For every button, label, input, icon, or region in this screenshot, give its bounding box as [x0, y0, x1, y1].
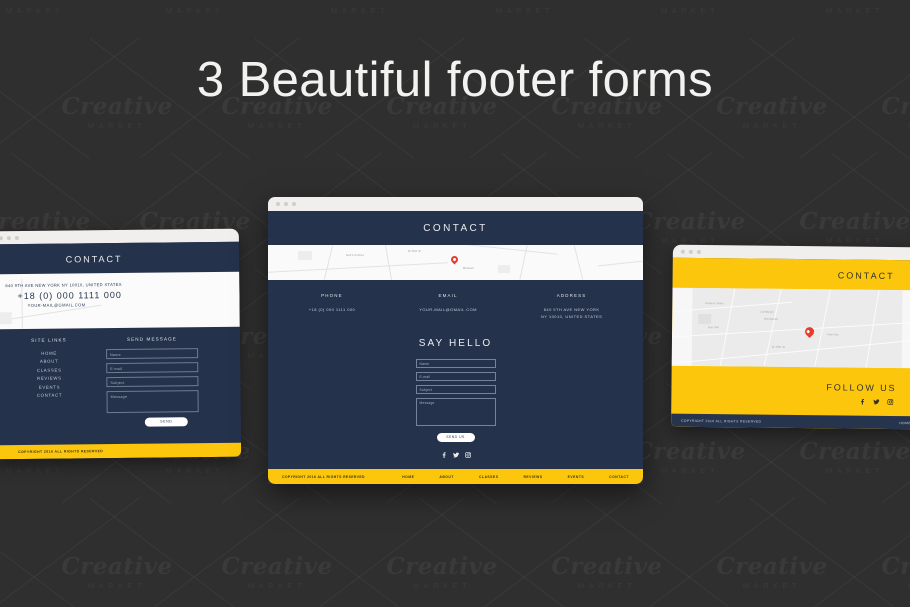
browser-chrome-center [268, 197, 643, 211]
center-message-input[interactable]: Message [416, 398, 496, 426]
watermark-creative-market: CreativeMARKET [872, 555, 910, 590]
watermark-script: Creative [790, 0, 910, 3]
watermark-subtitle: MARKET [707, 581, 837, 590]
right-copyright: COPYRIGHT 2016 ALL RIGHTS RESERVED [681, 418, 761, 423]
watermark-subtitle: MARKET [790, 466, 910, 475]
watermark-subtitle: MARKET [0, 6, 100, 15]
left-footer-bar: COPYRIGHT 2016 ALL RIGHTS RESERVED [0, 443, 241, 460]
center-email-value: YOUR-MAIL@GMAIL.COM [419, 307, 477, 314]
window-dot-minimize-icon [7, 236, 11, 240]
window-dot-maximize-icon [15, 236, 19, 240]
watermark-subtitle: MARKET [0, 466, 100, 475]
mockup-right: CONTACT Hudson Yards Bus 350 Lindbergh M… [671, 245, 910, 430]
watermark-subtitle: MARKET [212, 581, 342, 590]
right-footer-bar: COPYRIGHT 2016 ALL RIGHTS RESERVED HOME [671, 414, 910, 430]
window-dot-minimize-icon [284, 202, 288, 206]
right-map-label-0: Hudson Yards [705, 302, 724, 305]
instagram-icon[interactable] [465, 452, 471, 458]
watermark-creative-market: CreativeMARKET [790, 440, 910, 475]
left-send-button[interactable]: SEND [145, 417, 188, 426]
watermark-subtitle: MARKET [790, 236, 910, 245]
watermark-script: Creative [872, 555, 910, 578]
center-info-email: EMAIL YOUR-MAIL@GMAIL.COM [419, 293, 477, 321]
right-map-label-2: Lindbergh [760, 311, 773, 314]
watermark-subtitle: MARKET [130, 466, 260, 475]
watermark-subtitle: MARKET [295, 6, 425, 15]
watermark-creative-market: CreativeMARKET [212, 555, 342, 590]
left-email: YOUR-MAIL@GMAIL.COM [28, 302, 123, 308]
instagram-icon[interactable] [887, 399, 893, 405]
watermark-creative-market: CreativeMARKET [52, 555, 182, 590]
watermark-script: Creative [295, 0, 425, 3]
watermark-script: Creative [212, 555, 342, 578]
watermark-creative-market: CreativeMARKET [625, 210, 755, 245]
mockup-center-screen: CONTACT Hell's Kitchen W 50th St Midtown… [268, 211, 643, 484]
watermark-subtitle: MARKET [377, 121, 507, 130]
watermark-subtitle: MARKET [707, 121, 837, 130]
watermark-script: Creative [707, 555, 837, 578]
center-say-hello-heading: SAY HELLO [268, 338, 643, 349]
right-social-links [671, 391, 910, 406]
left-address: 840 9TH AVE NEW YORK NY 10010, UNITED ST… [5, 282, 122, 288]
watermark-script: Creative [460, 0, 590, 3]
watermark-creative-market: CreativeMARKET [707, 555, 837, 590]
watermark-creative-market: CreativeMARKET [0, 0, 100, 15]
left-message-input[interactable]: Message [106, 390, 198, 413]
mockup-left-screen: CONTACT 840 9TH AVE NEW YORK NY 10010, U… [0, 242, 241, 460]
left-site-links: SITE LINKS HOME ABOUT CLASSES REVIEWS EV… [20, 337, 79, 428]
center-nav-home[interactable]: HOME [402, 475, 414, 479]
center-map: Hell's Kitchen W 50th St Midtown [268, 245, 643, 280]
watermark-subtitle: MARKET [377, 581, 507, 590]
watermark-subtitle: MARKET [872, 121, 910, 130]
right-map-label-5: Park Ave [827, 333, 839, 336]
watermark-creative-market: CreativeMARKET [790, 0, 910, 15]
twitter-icon[interactable] [453, 452, 459, 458]
right-nav-home[interactable]: HOME [899, 421, 910, 425]
window-dot-maximize-icon [292, 202, 296, 206]
watermark-creative-market: CreativeMARKET [790, 210, 910, 245]
center-send-button[interactable]: SEND US [437, 433, 475, 442]
center-address-value: 840 9TH AVE NEW YORK NY 10010, UNITED ST… [541, 307, 602, 321]
left-name-input[interactable]: Name [106, 348, 198, 359]
watermark-subtitle: MARKET [460, 6, 590, 15]
watermark-script: Creative [790, 440, 910, 463]
center-nav-events[interactable]: EVENTS [568, 475, 585, 479]
watermark-creative-market: CreativeMARKET [625, 0, 755, 15]
center-nav-reviews[interactable]: REVIEWS [523, 475, 542, 479]
watermark-subtitle: MARKET [130, 6, 260, 15]
right-map: Hudson Yards Bus 350 Lindbergh Manhattan… [672, 288, 910, 369]
map-label-0: Hell's Kitchen [346, 254, 364, 257]
center-nav-classes[interactable]: CLASSES [479, 475, 499, 479]
mockup-right-screen: CONTACT Hudson Yards Bus 350 Lindbergh M… [671, 258, 910, 430]
mockup-center: CONTACT Hell's Kitchen W 50th St Midtown… [268, 197, 643, 484]
left-copyright: COPYRIGHT 2016 ALL RIGHTS RESERVED [0, 443, 241, 455]
center-nav-about[interactable]: ABOUT [439, 475, 454, 479]
left-site-links-heading: SITE LINKS [20, 337, 78, 343]
center-name-input[interactable]: Name [416, 359, 496, 368]
watermark-creative-market: CreativeMARKET [625, 440, 755, 475]
watermark-subtitle: MARKET [625, 6, 755, 15]
center-info-phone: PHONE +18 (0) 000 1111 000 [309, 293, 355, 321]
page-title: 3 Beautiful footer forms [0, 52, 910, 108]
watermark-creative-market: CreativeMARKET [295, 0, 425, 15]
location-pin-icon [450, 255, 460, 265]
window-dot-minimize-icon [689, 249, 693, 253]
left-email-input[interactable]: E-mail [106, 362, 198, 373]
right-contact-title: CONTACT [673, 258, 910, 291]
center-contact-title: CONTACT [268, 211, 643, 245]
center-footer-bar: COPYRIGHT 2016 ALL RIGHTS RESERVED HOME … [268, 469, 643, 484]
window-dot-close-icon [0, 236, 3, 240]
facebook-icon[interactable] [859, 399, 865, 405]
watermark-script: Creative [625, 440, 755, 463]
watermark-subtitle: MARKET [790, 6, 910, 15]
watermark-subtitle: MARKET [625, 236, 755, 245]
center-info-address: ADDRESS 840 9TH AVE NEW YORK NY 10010, U… [541, 293, 602, 321]
watermark-script: Creative [625, 210, 755, 233]
right-map-label-4: W 39th St [772, 346, 785, 349]
watermark-script: Creative [0, 0, 100, 3]
center-phone-value: +18 (0) 000 1111 000 [309, 307, 355, 314]
right-follow-us-heading: FOLLOW US [671, 366, 910, 394]
mockup-left: CONTACT 840 9TH AVE NEW YORK NY 10010, U… [0, 229, 241, 460]
left-phone: +18 (0) 000 1111 000 [17, 290, 122, 301]
watermark-script: Creative [377, 555, 507, 578]
center-phone-heading: PHONE [309, 293, 355, 298]
watermark-subtitle: MARKET [52, 581, 182, 590]
right-map-label-1: Bus 350 [708, 326, 719, 329]
watermark-subtitle: MARKET [872, 581, 910, 590]
left-map-contact-text: 840 9TH AVE NEW YORK NY 10010, UNITED ST… [5, 282, 122, 308]
window-dot-close-icon [681, 249, 685, 253]
center-footer-nav: HOME ABOUT CLASSES REVIEWS EVENTS CONTAC… [402, 475, 629, 479]
left-link-contact[interactable]: CONTACT [20, 391, 78, 400]
window-dot-maximize-icon [697, 249, 701, 253]
watermark-creative-market: CreativeMARKET [377, 555, 507, 590]
center-address-heading: ADDRESS [541, 293, 602, 298]
watermark-creative-market: CreativeMARKET [130, 0, 260, 15]
watermark-subtitle: MARKET [542, 121, 672, 130]
watermark-subtitle: MARKET [542, 581, 672, 590]
watermark-subtitle: MARKET [625, 466, 755, 475]
watermark-subtitle: MARKET [52, 121, 182, 130]
left-footer-body: SITE LINKS HOME ABOUT CLASSES REVIEWS EV… [0, 327, 241, 449]
center-nav-contact[interactable]: CONTACT [609, 475, 629, 479]
twitter-icon[interactable] [873, 399, 879, 405]
left-send-message-heading: SEND MESSAGE [106, 336, 198, 342]
watermark-script: Creative [130, 0, 260, 3]
center-subject-input[interactable]: Subject [416, 385, 496, 394]
watermark-script: Creative [790, 210, 910, 233]
map-label-2: Midtown [463, 267, 474, 270]
watermark-subtitle: MARKET [212, 121, 342, 130]
center-copyright: COPYRIGHT 2016 ALL RIGHTS RESERVED [282, 475, 365, 479]
watermark-script: Creative [625, 0, 755, 3]
center-contact-info: PHONE +18 (0) 000 1111 000 EMAIL YOUR-MA… [268, 280, 643, 321]
watermark-script: Creative [52, 555, 182, 578]
center-email-heading: EMAIL [419, 293, 477, 298]
watermark-creative-market: CreativeMARKET [542, 555, 672, 590]
watermark-script: Creative [542, 555, 672, 578]
facebook-icon[interactable] [441, 452, 447, 458]
left-map: 840 9TH AVE NEW YORK NY 10010, UNITED ST… [0, 272, 240, 330]
left-contact-title: CONTACT [0, 242, 239, 275]
center-email-input[interactable]: E-mail [416, 372, 496, 381]
right-map-label-3: Manhattan [764, 318, 778, 321]
left-contact-form: SEND MESSAGE Name E-mail Subject Message… [106, 336, 199, 427]
window-dot-close-icon [276, 202, 280, 206]
map-label-1: W 50th St [408, 250, 421, 253]
watermark-creative-market: CreativeMARKET [460, 0, 590, 15]
center-social-links [268, 452, 643, 458]
left-subject-input[interactable]: Subject [106, 376, 198, 387]
center-contact-form: Name E-mail Subject Message SEND US [416, 359, 496, 442]
